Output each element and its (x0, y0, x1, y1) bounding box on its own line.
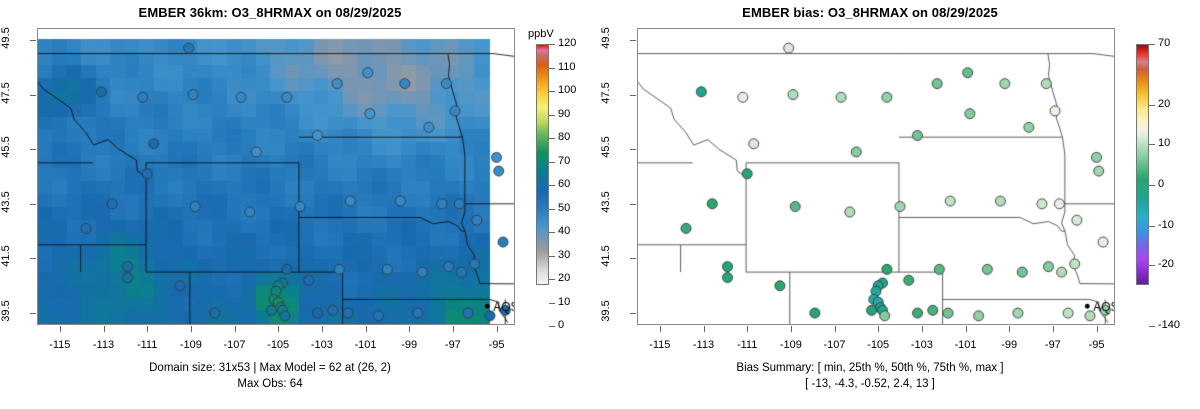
x-axis-tick-label: -99 (389, 339, 429, 351)
caption-domain-info: Domain size: 31x53 | Max Model = 62 at (… (0, 362, 540, 374)
colorbar-tick-label: -10 (1158, 219, 1174, 231)
y-axis-tick-mark (30, 40, 36, 41)
bias-panel: EMBER bias: O3_8HRMAX on 08/29/2025 -115… (600, 0, 1200, 409)
y-axis-tick-label: 47.5 (600, 76, 612, 110)
x-axis-tick-mark (878, 326, 879, 332)
colorbar-tick-label: 10 (558, 296, 570, 308)
colorbar-tick-mark (549, 326, 555, 327)
x-axis-tick-mark (278, 326, 279, 332)
y-axis-tick-mark (30, 149, 36, 150)
colorbar-tick-mark (1149, 144, 1155, 145)
page-title: EMBER 36km: O3_8HRMAX on 08/29/2025 (0, 5, 540, 20)
colorbar-tick-label: 40 (558, 225, 570, 237)
x-axis-tick-mark (497, 326, 498, 332)
y-axis-tick-label: 41.5 (0, 239, 12, 273)
x-axis-tick-label: -95 (477, 339, 517, 351)
colorbar-tick-label: 10 (1158, 137, 1170, 149)
y-axis-tick-mark (30, 313, 36, 314)
x-axis-tick-mark (660, 326, 661, 332)
y-axis-tick-label: 39.5 (600, 294, 612, 328)
x-axis-tick-label: -99 (989, 339, 1029, 351)
x-axis-tick-mark (409, 326, 410, 332)
y-axis-tick-mark (30, 258, 36, 259)
x-axis-tick-mark (747, 326, 748, 332)
x-axis-tick-label: -101 (346, 339, 386, 351)
colorbar-tick-mark (549, 44, 555, 45)
colorbar-tick-mark (549, 232, 555, 233)
colorbar-tick-label: 100 (558, 84, 576, 96)
y-axis-tick-label: 47.5 (0, 76, 12, 110)
x-axis-tick-mark (322, 326, 323, 332)
colorbar-tick-mark (1149, 226, 1155, 227)
x-axis-tick-label: -95 (1077, 339, 1117, 351)
y-axis-tick-label: 43.5 (0, 185, 12, 219)
colorbar-tick-label: 120 (558, 37, 576, 49)
y-axis-tick-mark (30, 204, 36, 205)
colorbar-tick-label: 20 (558, 272, 570, 284)
x-axis-tick-label: -97 (433, 339, 473, 351)
y-axis-tick-label: 39.5 (0, 294, 12, 328)
colorbar-tick-mark (1149, 185, 1155, 186)
x-axis-tick-label: -103 (902, 339, 942, 351)
colorbar-tick-label: 70 (558, 155, 570, 167)
colorbar-tick-mark (549, 279, 555, 280)
x-axis-tick-label: -105 (258, 339, 298, 351)
x-axis-tick-label: -97 (1033, 339, 1073, 351)
map-plot-area-model[interactable] (37, 28, 515, 325)
colorbar-tick-mark (549, 185, 555, 186)
x-axis-tick-mark (835, 326, 836, 332)
colorbar-tick-mark (549, 68, 555, 69)
figure-root: EMBER 36km: O3_8HRMAX on 08/29/2025 -115… (0, 0, 1200, 409)
y-axis-tick-label: 49.5 (0, 21, 12, 55)
x-axis-tick-mark (453, 326, 454, 332)
caption-max-obs: Max Obs: 64 (0, 378, 540, 390)
y-axis-tick-label: 43.5 (600, 185, 612, 219)
model-field-panel: EMBER 36km: O3_8HRMAX on 08/29/2025 -115… (0, 0, 600, 409)
colorbar-tick-mark (549, 115, 555, 116)
x-axis-tick-mark (791, 326, 792, 332)
x-axis-tick-label: -105 (858, 339, 898, 351)
x-axis-tick-label: -115 (640, 339, 680, 351)
x-axis-tick-label: -109 (771, 339, 811, 351)
colorbar-tick-mark (1149, 44, 1155, 45)
x-axis-tick-label: -115 (40, 339, 80, 351)
y-axis-tick-mark (630, 313, 636, 314)
colorbar-tick-label: 70 (1158, 37, 1170, 49)
colorbar-tick-label: 50 (558, 202, 570, 214)
x-axis-tick-mark (1097, 326, 1098, 332)
colorbar-tick-label: 110 (558, 61, 576, 73)
x-axis-tick-label: -113 (684, 339, 724, 351)
colorbar-model (536, 44, 549, 285)
x-axis-tick-mark (104, 326, 105, 332)
colorbar-tick-label: -140 (1158, 319, 1180, 331)
colorbar-tick-label: 0 (558, 319, 564, 331)
colorbar-tick-mark (1149, 105, 1155, 106)
y-axis-tick-label: 41.5 (600, 239, 612, 273)
map-plot-area-bias[interactable] (637, 28, 1115, 325)
y-axis-tick-label: 45.5 (600, 130, 612, 164)
colorbar-tick-label: 90 (558, 108, 570, 120)
colorbar-tick-mark (549, 138, 555, 139)
page-title-bias: EMBER bias: O3_8HRMAX on 08/29/2025 (600, 5, 1140, 20)
x-axis-tick-label: -111 (727, 339, 767, 351)
colorbar-tick-label: 30 (558, 249, 570, 261)
y-axis-tick-label: 45.5 (0, 130, 12, 164)
colorbar-tick-mark (1149, 326, 1155, 327)
y-axis-tick-label: 49.5 (600, 21, 612, 55)
colorbar-tick-mark (549, 162, 555, 163)
colorbar-tick-label: 20 (1158, 98, 1170, 110)
x-axis-tick-mark (191, 326, 192, 332)
y-axis-tick-mark (630, 258, 636, 259)
y-axis-tick-mark (630, 149, 636, 150)
map-overlay-bias (638, 29, 1114, 324)
x-axis-tick-label: -111 (127, 339, 167, 351)
x-axis-tick-mark (704, 326, 705, 332)
x-axis-tick-label: -103 (302, 339, 342, 351)
x-axis-tick-label: -107 (215, 339, 255, 351)
y-axis-tick-mark (30, 95, 36, 96)
caption-bias-summary-header: Bias Summary: [ min, 25th %, 50th %, 75t… (600, 362, 1140, 374)
x-axis-tick-label: -107 (815, 339, 855, 351)
caption-bias-summary-values: [ -13, -4.3, -0.52, 2.4, 13 ] (600, 378, 1140, 390)
colorbar-tick-mark (549, 209, 555, 210)
x-axis-tick-label: -101 (946, 339, 986, 351)
x-axis-tick-label: -113 (84, 339, 124, 351)
x-axis-tick-mark (966, 326, 967, 332)
colorbar-tick-mark (549, 256, 555, 257)
x-axis-tick-mark (366, 326, 367, 332)
colorbar-bias (1136, 44, 1149, 285)
x-axis-tick-mark (235, 326, 236, 332)
x-axis-tick-mark (147, 326, 148, 332)
colorbar-tick-mark (549, 91, 555, 92)
colorbar-unit-label-model: ppbV (528, 28, 554, 40)
x-axis-tick-label: -109 (171, 339, 211, 351)
x-axis-tick-mark (1009, 326, 1010, 332)
colorbar-tick-label: -20 (1158, 258, 1174, 270)
colorbar-tick-mark (1149, 265, 1155, 266)
colorbar-tick-label: 0 (1158, 178, 1164, 190)
y-axis-tick-mark (630, 95, 636, 96)
x-axis-tick-mark (922, 326, 923, 332)
x-axis-tick-mark (1053, 326, 1054, 332)
x-axis-tick-mark (60, 326, 61, 332)
colorbar-tick-label: 60 (558, 178, 570, 190)
y-axis-tick-mark (630, 204, 636, 205)
y-axis-tick-mark (630, 40, 636, 41)
map-overlay-model (38, 29, 514, 324)
colorbar-tick-label: 80 (558, 131, 570, 143)
colorbar-tick-mark (549, 303, 555, 304)
